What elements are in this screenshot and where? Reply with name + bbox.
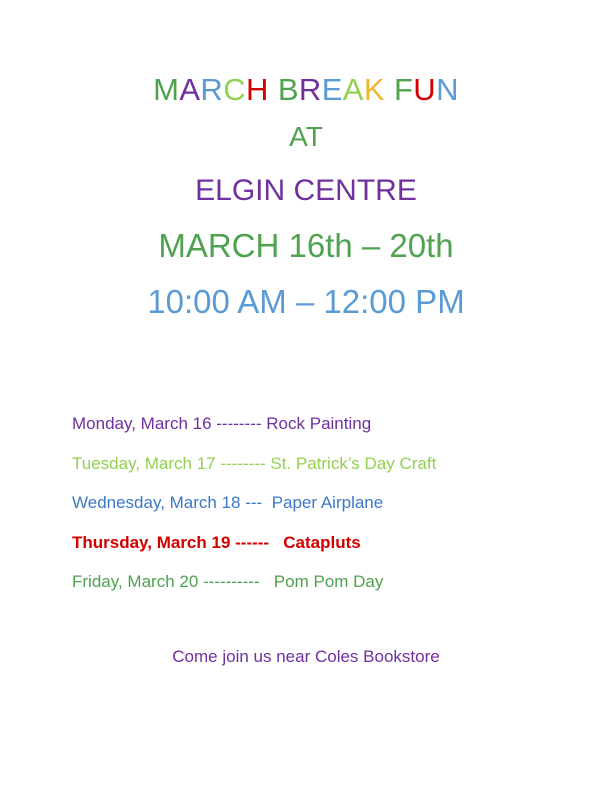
- title-letter: K: [364, 72, 385, 107]
- title-letter: B: [278, 72, 299, 107]
- schedule-dash-separator: ---: [241, 493, 263, 512]
- poster-page: MARCH BREAK FUN AT ELGIN CENTRE MARCH 16…: [0, 0, 612, 792]
- schedule-row: Tuesday, March 17 -------- St. Patrick’s…: [72, 444, 552, 484]
- schedule-activity: Pom Pom Day: [274, 572, 384, 591]
- schedule-gap: [269, 533, 283, 552]
- schedule-dash-separator: ------: [230, 533, 269, 552]
- schedule-activity: Catapluts: [283, 533, 360, 552]
- title-letter: A: [343, 72, 364, 107]
- schedule-row: Thursday, March 19 ------ Catapluts: [72, 523, 552, 563]
- schedule-activity: St. Patrick’s Day Craft: [270, 454, 436, 473]
- title-letter: H: [246, 72, 269, 107]
- schedule-dash-separator: ----------: [198, 572, 259, 591]
- schedule-gap: [260, 572, 274, 591]
- schedule-list: Monday, March 16 -------- Rock PaintingT…: [72, 404, 552, 602]
- schedule-row: Friday, March 20 ---------- Pom Pom Day: [72, 562, 552, 602]
- title-letter: C: [223, 72, 246, 107]
- schedule-day: Monday, March 16: [72, 414, 212, 433]
- schedule-activity: Paper Airplane: [272, 493, 384, 512]
- heading-dates: MARCH 16th – 20th: [0, 218, 612, 274]
- title-letter: U: [413, 72, 436, 107]
- schedule-dash-separator: --------: [216, 454, 266, 473]
- title-letter: [385, 72, 394, 107]
- schedule-day: Wednesday, March 18: [72, 493, 241, 512]
- schedule-dash-separator: --------: [212, 414, 262, 433]
- schedule-row: Wednesday, March 18 --- Paper Airplane: [72, 483, 552, 523]
- poster-title: MARCH BREAK FUN: [0, 70, 612, 110]
- title-letter: R: [200, 72, 223, 107]
- schedule-gap: [262, 493, 271, 512]
- title-letter: E: [322, 72, 343, 107]
- title-letter: A: [179, 72, 200, 107]
- heading-at: AT: [0, 110, 612, 164]
- heading-time: 10:00 AM – 12:00 PM: [0, 274, 612, 330]
- schedule-row: Monday, March 16 -------- Rock Painting: [72, 404, 552, 444]
- title-letter: F: [394, 72, 413, 107]
- title-letter: N: [436, 72, 459, 107]
- schedule-day: Tuesday, March 17: [72, 454, 216, 473]
- schedule-day: Thursday, March 19: [72, 533, 230, 552]
- footer-text: Come join us near Coles Bookstore: [0, 645, 612, 669]
- poster-heading-block: MARCH BREAK FUN AT ELGIN CENTRE MARCH 16…: [0, 70, 612, 330]
- schedule-day: Friday, March 20: [72, 572, 198, 591]
- title-letter: [269, 72, 278, 107]
- poster-footer: Come join us near Coles Bookstore: [0, 645, 612, 669]
- title-letter: R: [299, 72, 322, 107]
- heading-venue: ELGIN CENTRE: [0, 164, 612, 218]
- title-letter: M: [153, 72, 179, 107]
- schedule-activity: Rock Painting: [266, 414, 371, 433]
